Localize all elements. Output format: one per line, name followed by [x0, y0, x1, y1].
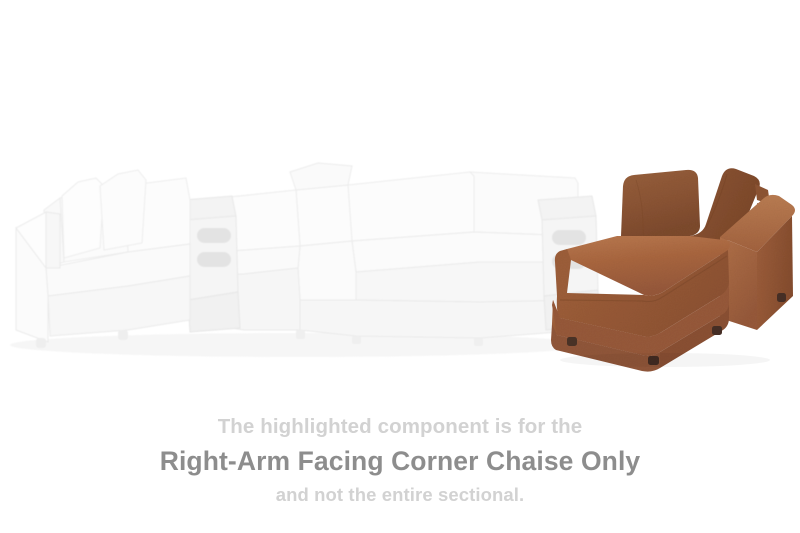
- cup-holder-slot: [197, 228, 231, 243]
- ghost-leg: [296, 330, 305, 339]
- sofa-vector-artwork: [0, 0, 800, 400]
- caption-line-2-component-name: Right-Arm Facing Corner Chaise Only: [0, 442, 800, 480]
- cup-holder-slot: [197, 252, 231, 267]
- chaise-back-cushion-left: [621, 170, 700, 236]
- ghost-leg: [36, 338, 46, 348]
- ghost-storage-console-left: [183, 196, 240, 332]
- caption-line-3: and not the entire sectional.: [0, 480, 800, 510]
- sectional-sofa-illustration: [0, 0, 800, 400]
- ghost-leg: [352, 336, 361, 344]
- caption-block: The highlighted component is for the Rig…: [0, 412, 800, 510]
- chaise-leg: [567, 337, 577, 346]
- chaise-floor-shadow: [560, 353, 770, 367]
- chaise-leg: [777, 293, 786, 302]
- caption-line-1: The highlighted component is for the: [0, 412, 800, 442]
- ghost-leg: [474, 338, 483, 346]
- ghost-seat-cushions-right-run: [298, 232, 582, 302]
- product-image-canvas: The highlighted component is for the Rig…: [0, 0, 800, 533]
- ghost-leg: [118, 330, 128, 340]
- ghosted-sectional-group: [10, 163, 600, 357]
- chaise-leg: [712, 326, 722, 335]
- cup-holder-slot: [552, 230, 586, 245]
